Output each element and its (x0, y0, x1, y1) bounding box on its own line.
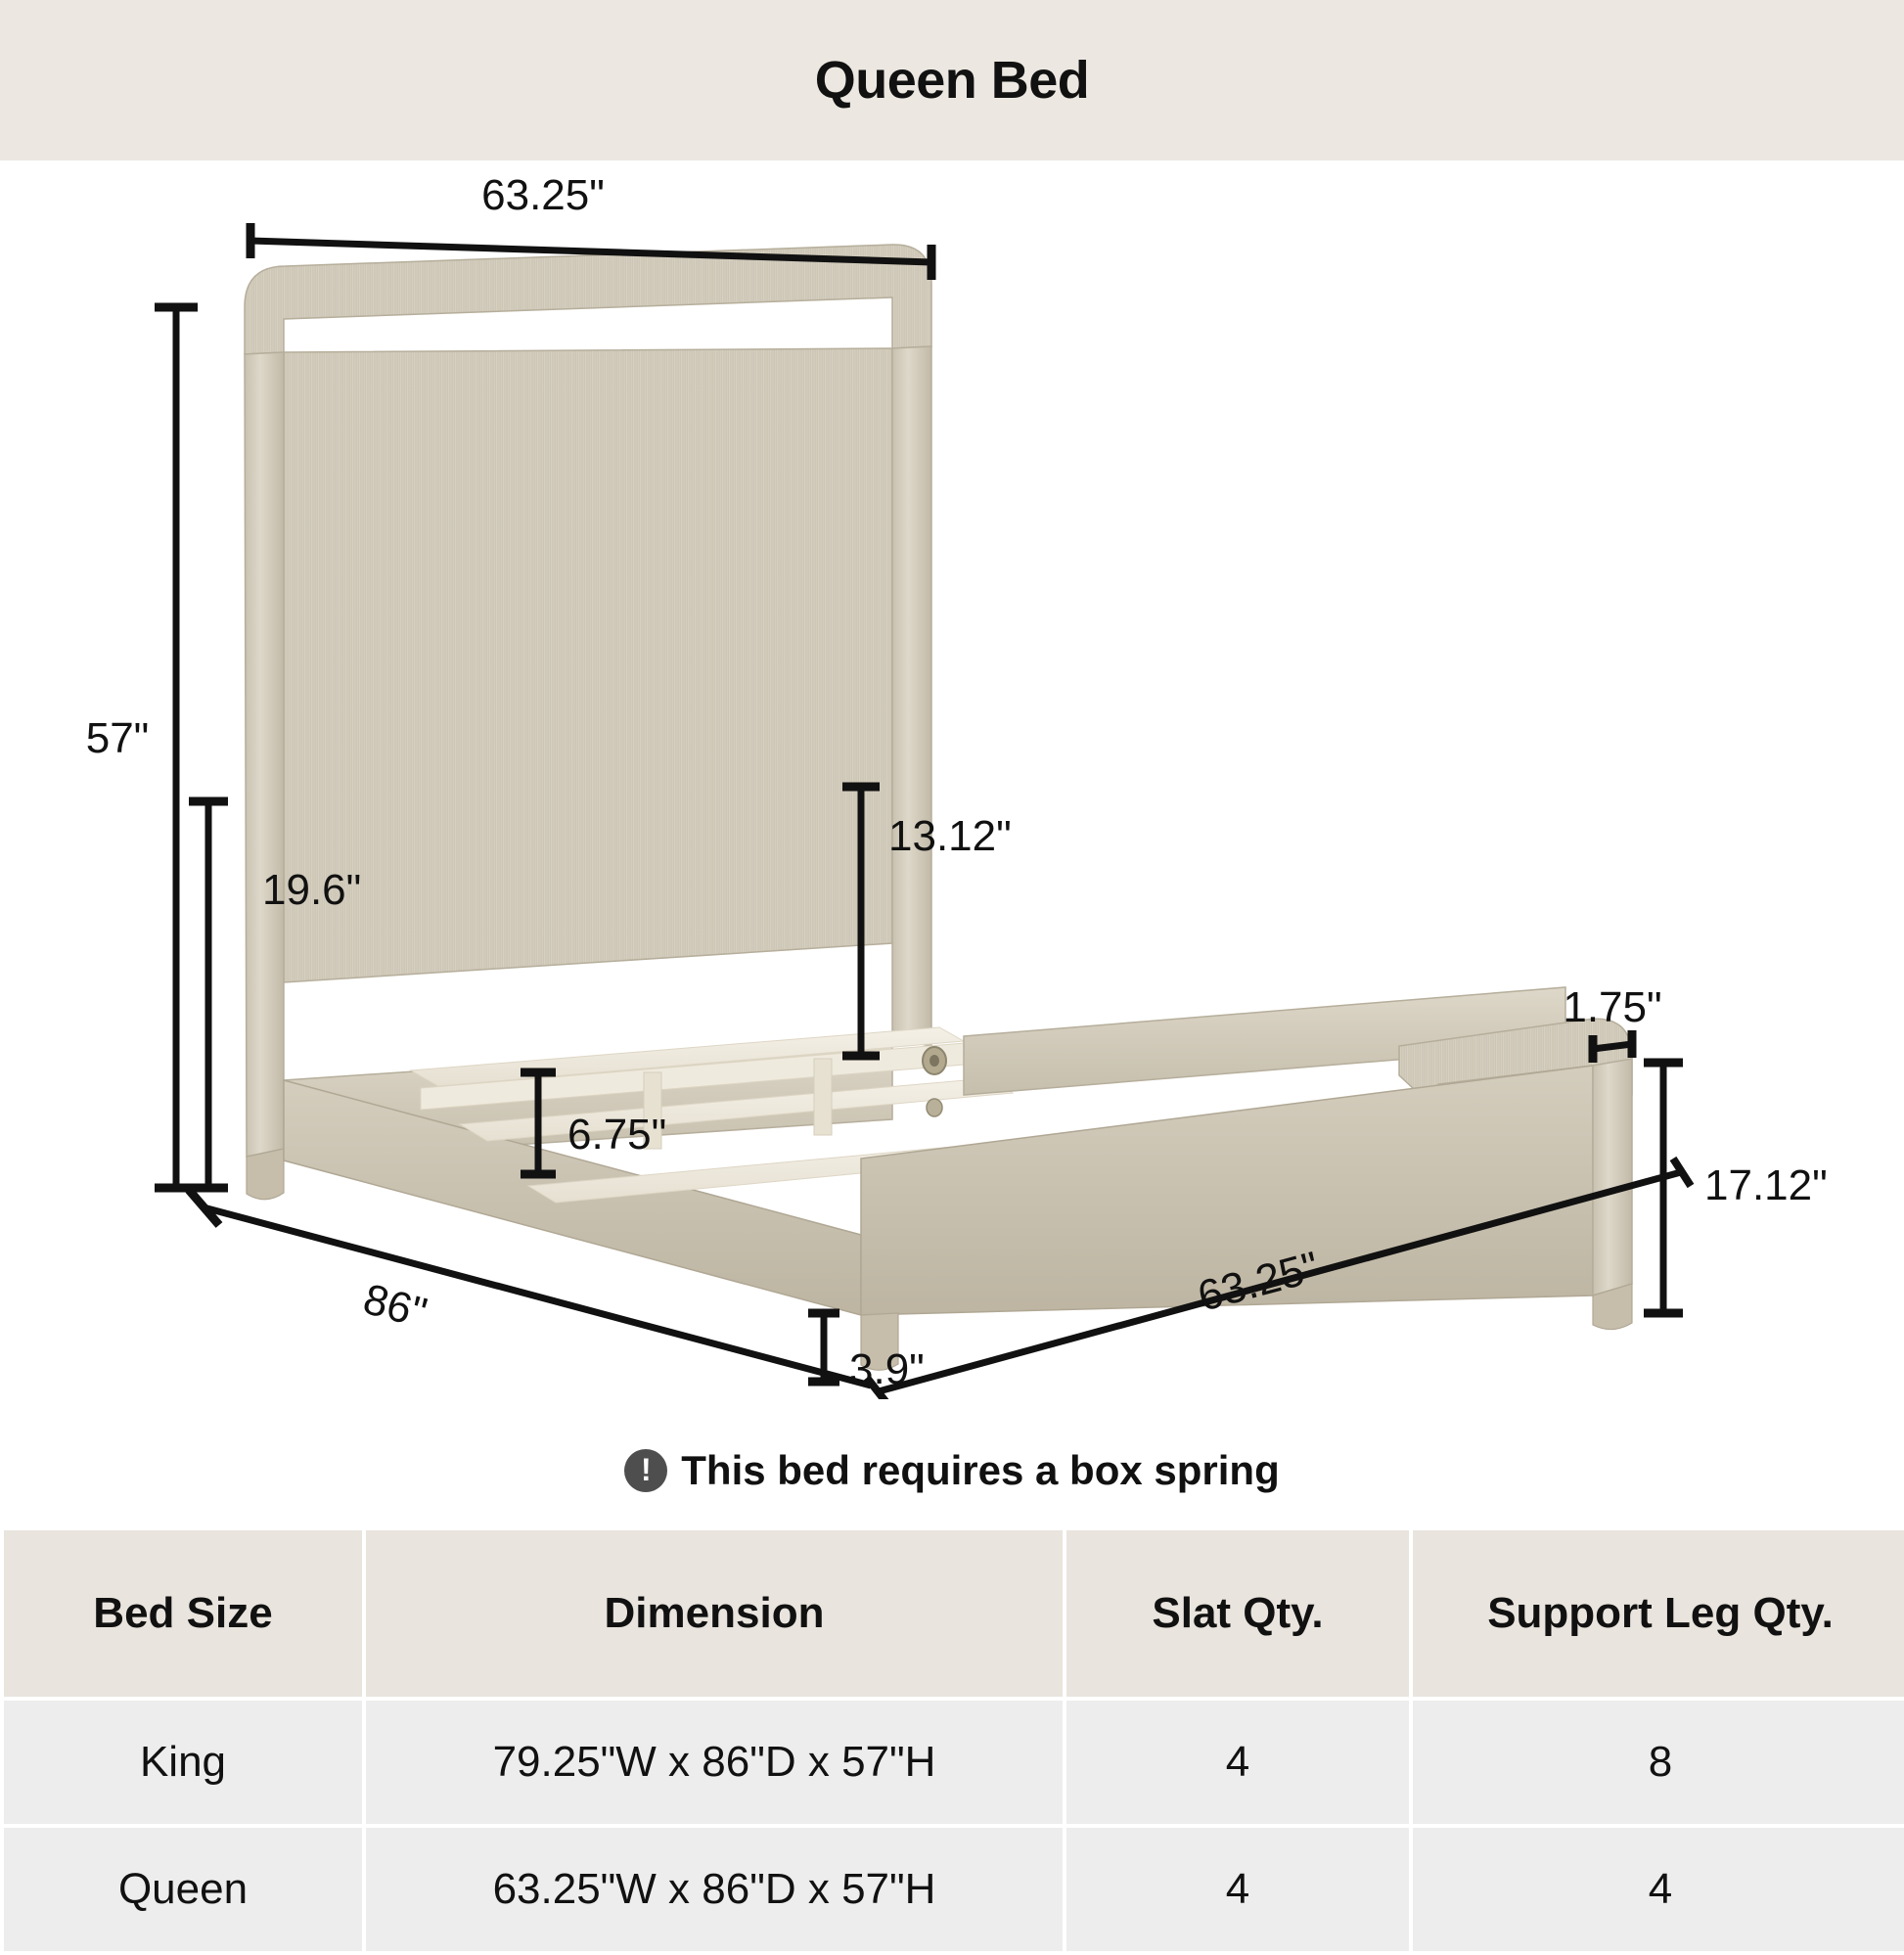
dim-label-clearance: 3.9" (849, 1345, 925, 1393)
exclamation-circle-icon: ! (624, 1449, 667, 1492)
bed-illustration: 63.25" 57" 19.6" 13.12" 6.75" 86" 3.9" 1… (0, 160, 1904, 1399)
page-title: Queen Bed (815, 50, 1090, 111)
dim-label-overall-height: 57" (86, 714, 150, 762)
dim-label-post-width: 1.75" (1563, 983, 1661, 1031)
column-header-dimension: Dimension (366, 1530, 1063, 1697)
dim-label-top-width: 63.25" (481, 171, 605, 219)
cell-bed-size: Queen (4, 1828, 362, 1951)
cell-dimension: 79.25"W x 86"D x 57"H (366, 1701, 1063, 1824)
column-header-bed-size: Bed Size (4, 1530, 362, 1697)
column-header-support-leg-qty: Support Leg Qty. (1413, 1530, 1904, 1697)
cell-slat-qty: 4 (1066, 1828, 1409, 1951)
box-spring-notice-text: This bed requires a box spring (681, 1447, 1279, 1494)
dim-label-leg-height: 19.6" (262, 866, 361, 914)
bed-dimension-diagram: 63.25" 57" 19.6" 13.12" 6.75" 86" 3.9" 1… (0, 160, 1904, 1399)
cell-bed-size: King (4, 1701, 362, 1824)
cell-dimension: 63.25"W x 86"D x 57"H (366, 1828, 1063, 1951)
bed-spec-table: Bed Size Dimension Slat Qty. Support Leg… (0, 1526, 1904, 1955)
table-header-row: Bed Size Dimension Slat Qty. Support Leg… (4, 1530, 1904, 1697)
table-row: Queen 63.25"W x 86"D x 57"H 4 4 (4, 1828, 1904, 1951)
dim-label-rail-gap: 13.12" (888, 812, 1012, 860)
box-spring-notice: ! This bed requires a box spring (0, 1424, 1904, 1517)
cell-support-leg-qty: 4 (1413, 1828, 1904, 1951)
cell-slat-qty: 4 (1066, 1701, 1409, 1824)
dim-label-rail-height: 6.75" (567, 1111, 666, 1159)
rail-connector-hardware (923, 1047, 946, 1116)
dim-label-footboard-height: 17.12" (1704, 1161, 1828, 1209)
table-row: King 79.25"W x 86"D x 57"H 4 8 (4, 1701, 1904, 1824)
column-header-slat-qty: Slat Qty. (1066, 1530, 1409, 1697)
page-header: Queen Bed (0, 0, 1904, 160)
cell-support-leg-qty: 8 (1413, 1701, 1904, 1824)
dim-label-depth: 86" (358, 1275, 431, 1338)
